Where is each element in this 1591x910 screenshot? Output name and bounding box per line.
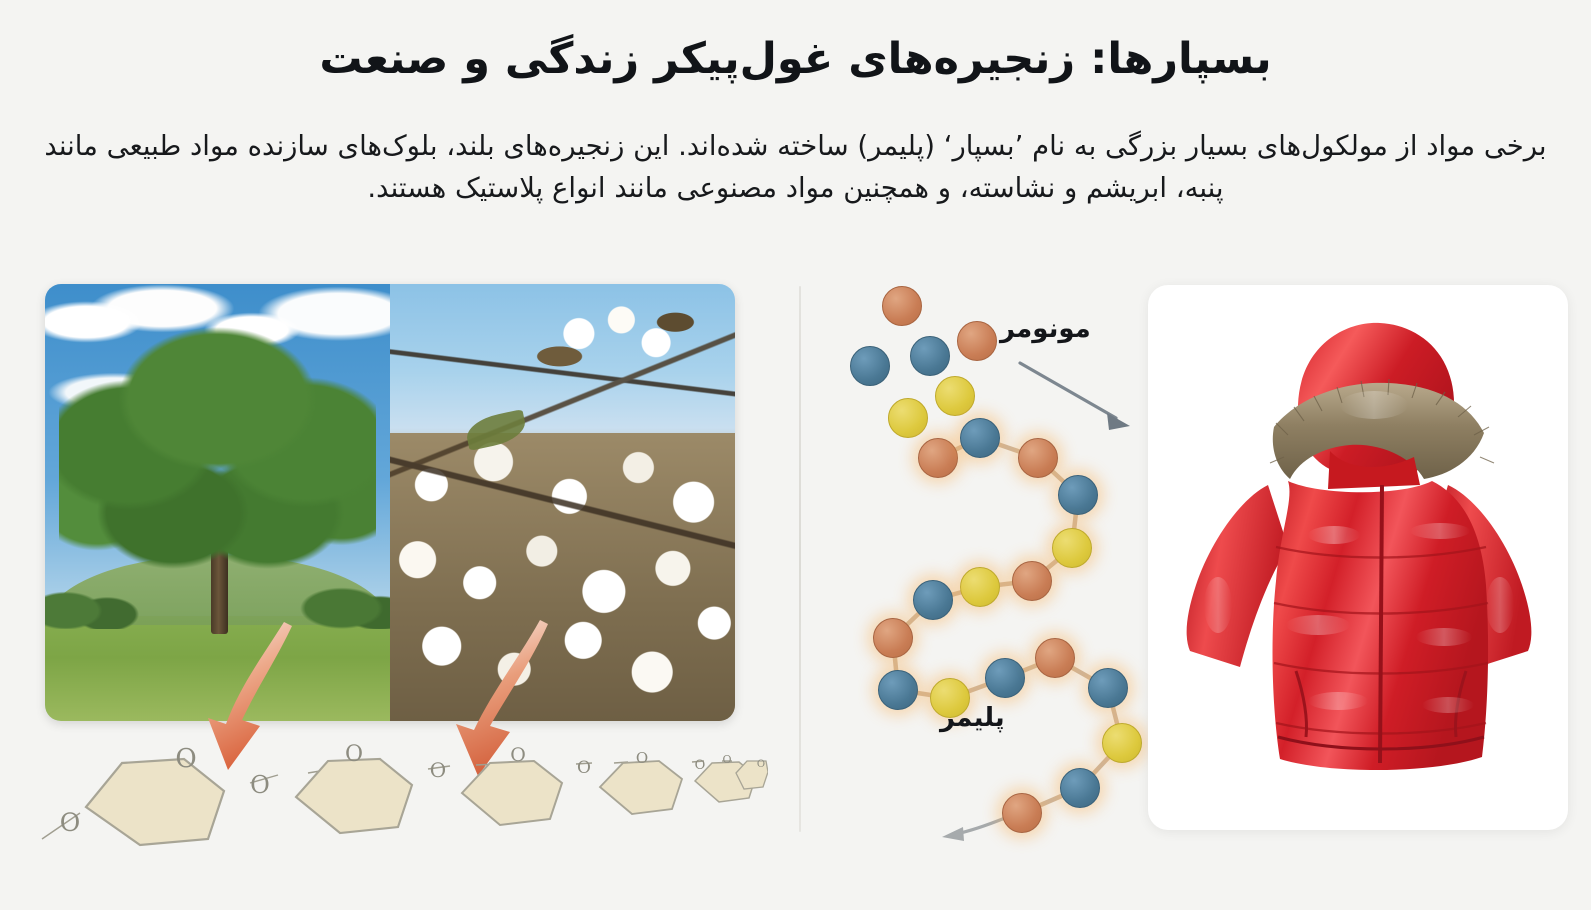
- monomer-node: [850, 346, 890, 386]
- oxygen-label: O: [345, 742, 363, 767]
- monomer-node: [957, 321, 997, 361]
- polymer-node: [960, 418, 1000, 458]
- chain-continues-arrow: [942, 818, 1005, 841]
- oxygen-label: O: [430, 758, 446, 782]
- monomer-to-polymer-arrow: [1020, 363, 1130, 430]
- polymer-node: [1012, 561, 1052, 601]
- polymer-node: [1035, 638, 1075, 678]
- slide-root: بسپارها: زنجیره‌های غول‌پیکر زندگی و صنع…: [0, 0, 1591, 910]
- polymer-node: [985, 658, 1025, 698]
- oxygen-label: O: [636, 749, 648, 767]
- cellulose-chain: O O O O O O O O O O O: [28, 735, 768, 855]
- polymer-illustration: مونومر پلیمر: [830, 278, 1140, 843]
- sugar-ring: [296, 759, 412, 833]
- oxygen-label: O: [175, 744, 196, 774]
- page-title: بسپارها: زنجیره‌های غول‌پیکر زندگی و صنع…: [0, 34, 1591, 85]
- red-puffer-jacket: [1148, 285, 1568, 830]
- oxygen-label: O: [60, 808, 81, 837]
- oxygen-label: O: [757, 759, 765, 770]
- polymer-node: [1018, 438, 1058, 478]
- tree-crown: [59, 323, 376, 594]
- cotton-top-branch: [521, 288, 714, 402]
- page-body-text: برخی مواد از مولکول‌های بسیار بزرگی به ن…: [28, 126, 1563, 210]
- polymer-node: [1060, 768, 1100, 808]
- monomer-node: [935, 376, 975, 416]
- polymer-node: [1052, 528, 1092, 568]
- photo-card: [45, 284, 735, 721]
- polymer-label: پلیمر: [940, 703, 1005, 733]
- polymer-node: [913, 580, 953, 620]
- monomer-node: [888, 398, 928, 438]
- sugar-ring: [86, 747, 226, 845]
- polymer-node: [1102, 723, 1142, 763]
- oxygen-label: O: [250, 771, 270, 799]
- monomer-node: [882, 286, 922, 326]
- oak-tree-photo: [45, 284, 390, 721]
- oxygen-label: O: [577, 758, 591, 778]
- oxygen-label: O: [510, 744, 526, 766]
- oxygen-label: O: [695, 758, 706, 773]
- polymer-node: [878, 670, 918, 710]
- vertical-divider: [799, 286, 801, 832]
- monomer-node: [910, 336, 950, 376]
- polymer-node: [1002, 793, 1042, 833]
- polymer-node: [1088, 668, 1128, 708]
- jacket-zipper: [1380, 485, 1382, 763]
- monomer-label: مونومر: [1000, 314, 1091, 344]
- cotton-field-photo: [390, 284, 735, 721]
- sugar-ring: [600, 761, 682, 814]
- sugar-ring: [462, 761, 562, 825]
- polymer-node: [1058, 475, 1098, 515]
- polymer-node: [873, 618, 913, 658]
- oxygen-label: O: [722, 753, 731, 766]
- polymer-node: [960, 567, 1000, 607]
- product-card: [1148, 285, 1568, 830]
- polymer-node: [918, 438, 958, 478]
